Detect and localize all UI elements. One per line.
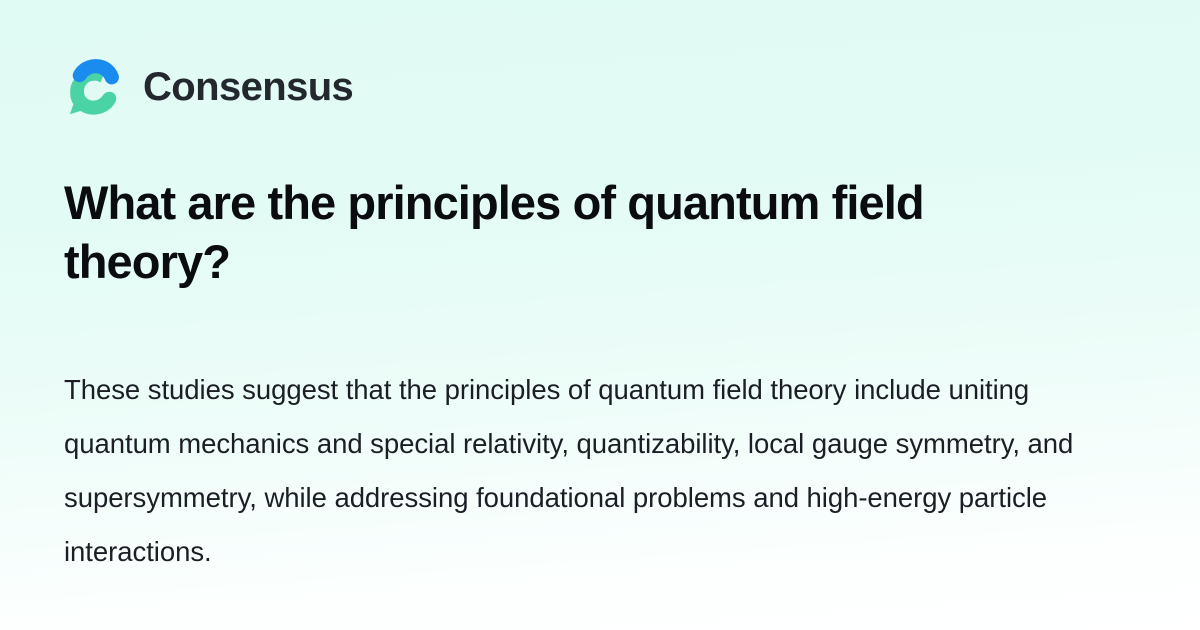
share-card: Consensus What are the principles of qua…: [0, 0, 1200, 630]
consensus-c-logo-icon: [66, 57, 124, 117]
brand-header: Consensus: [66, 56, 1136, 118]
page-title: What are the principles of quantum field…: [64, 173, 1074, 291]
brand-wordmark: Consensus: [143, 67, 353, 107]
summary-text: These studies suggest that the principle…: [64, 363, 1110, 579]
